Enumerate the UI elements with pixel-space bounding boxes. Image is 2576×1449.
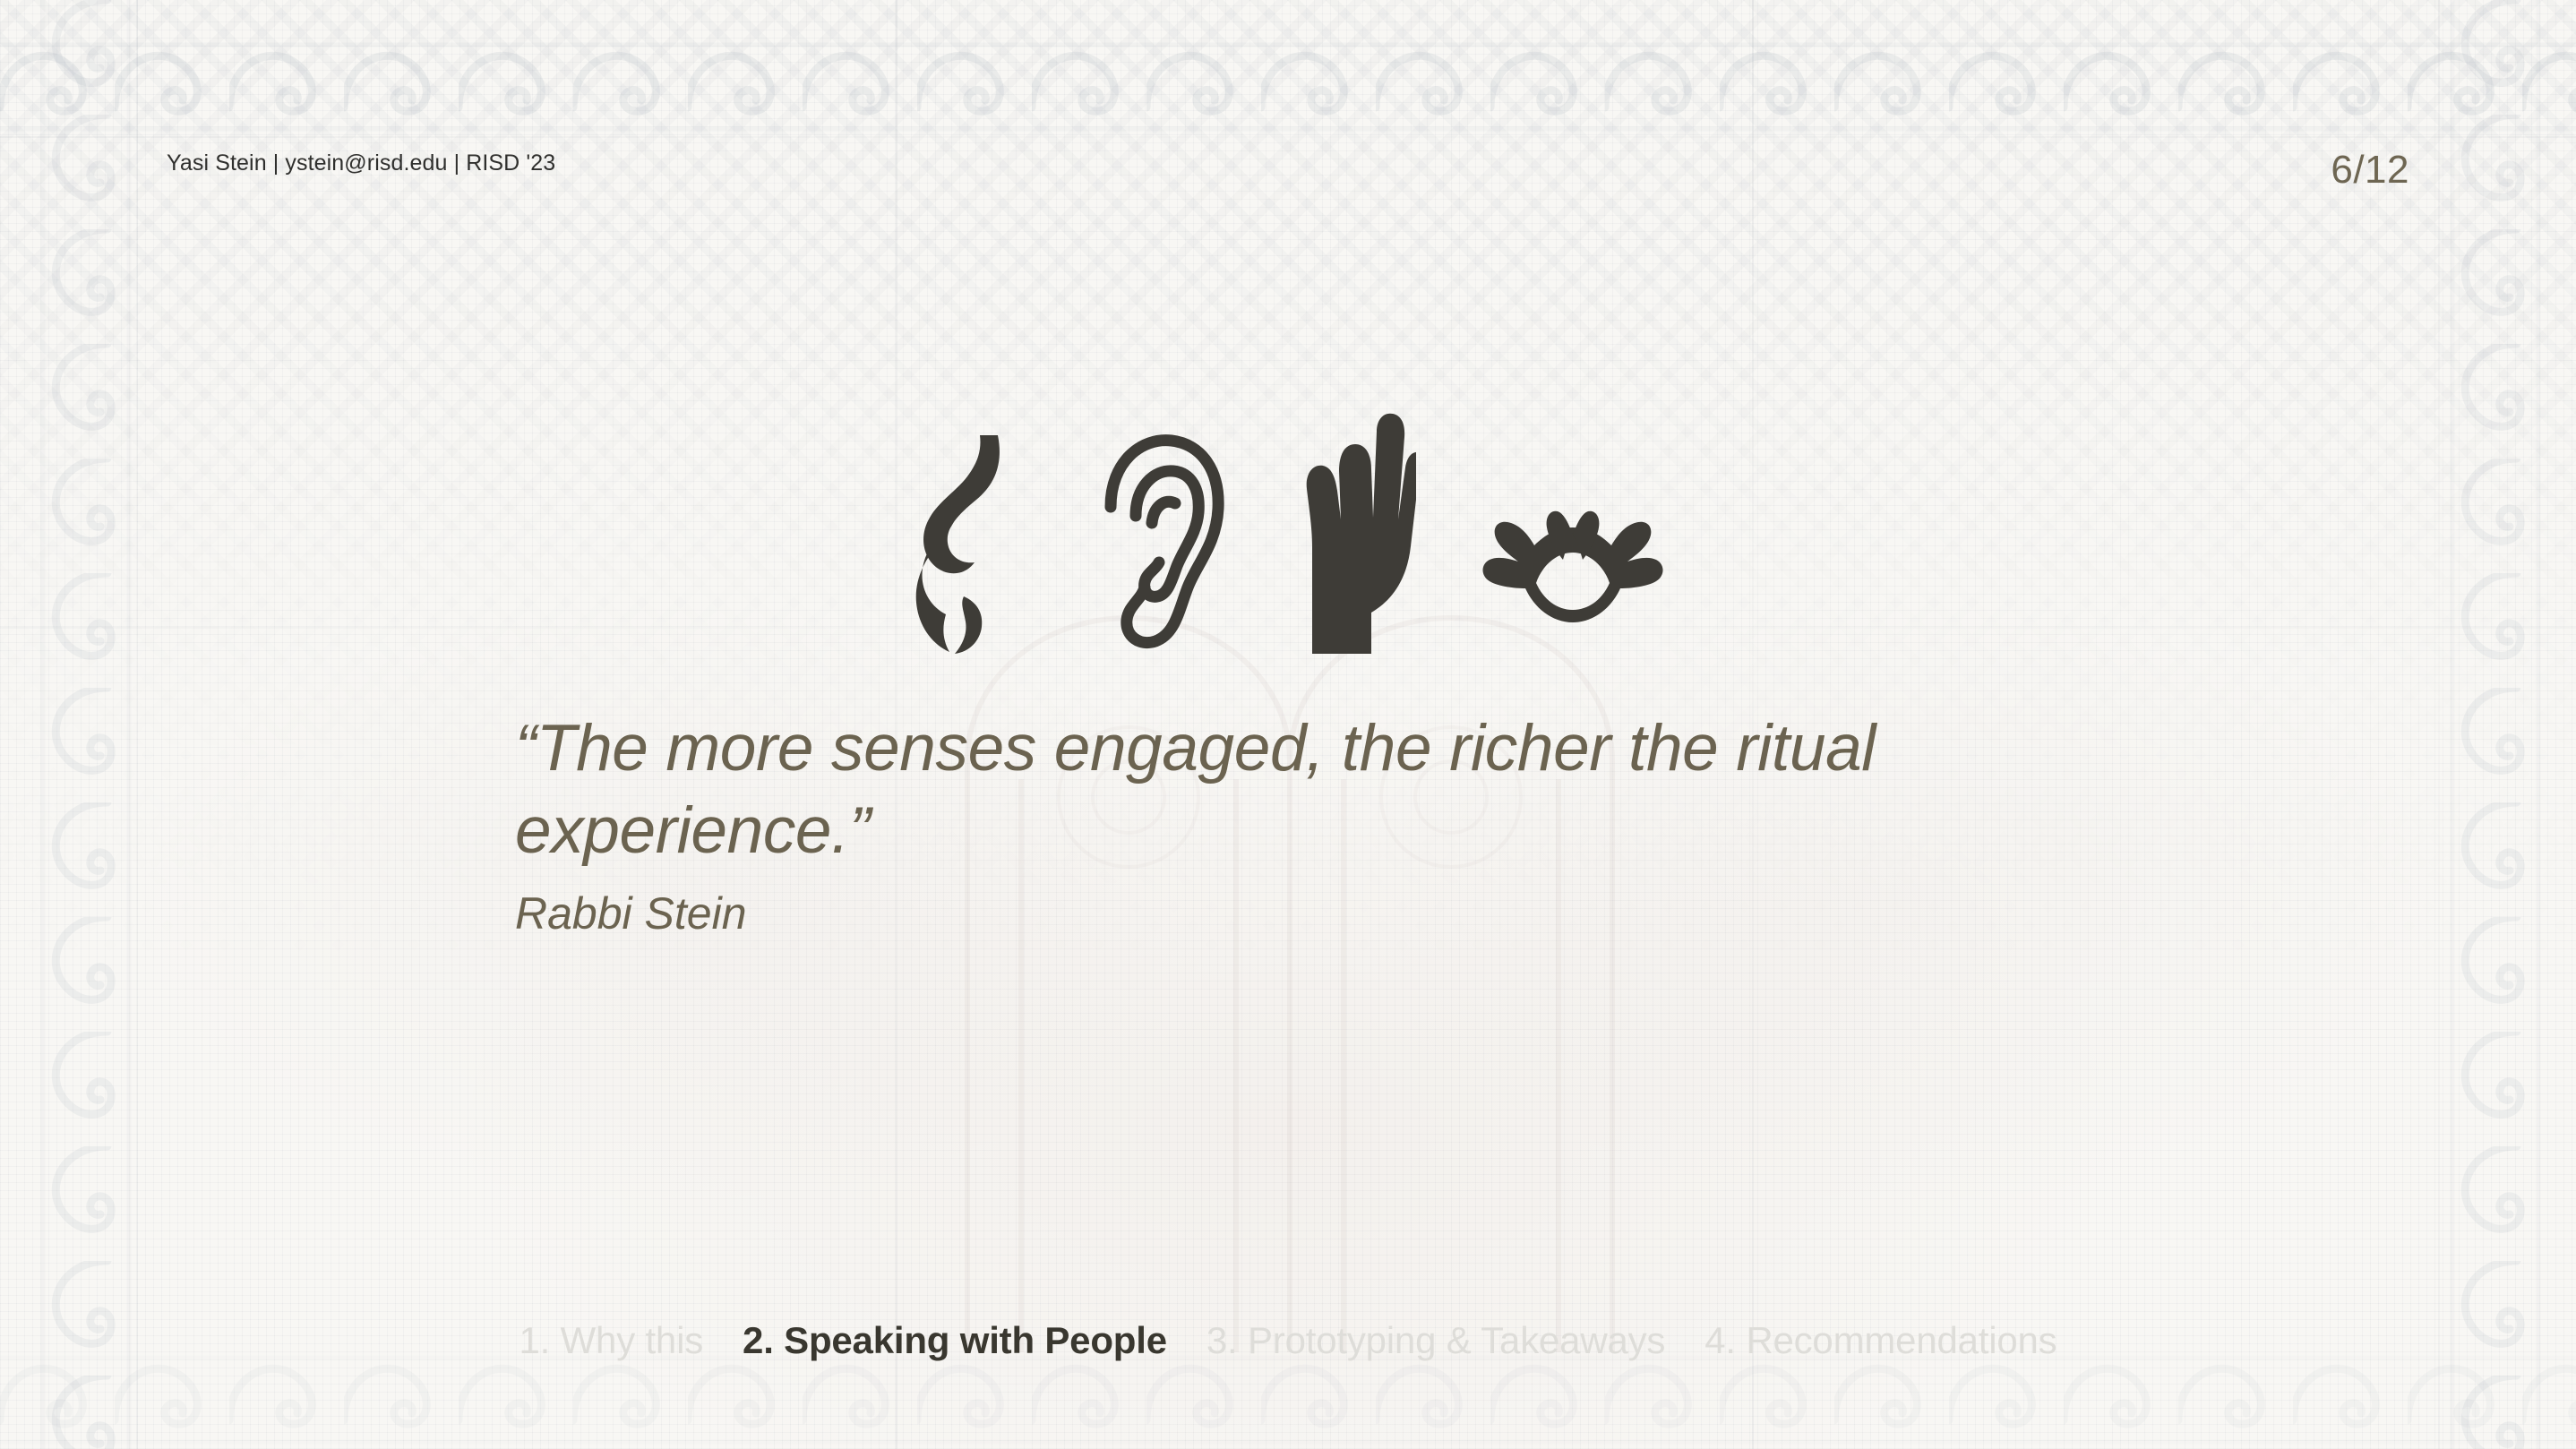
nav-item-prototyping-takeaways[interactable]: 3. Prototyping & Takeaways (1187, 1319, 1685, 1362)
eye-icon (1479, 497, 1667, 654)
quote-text: “The more senses engaged, the richer the… (515, 707, 2118, 872)
scroll-border-left (30, 0, 136, 1449)
quote-author: Rabbi Stein (515, 885, 2217, 943)
nav-item-recommendations[interactable]: 4. Recommendations (1685, 1319, 2076, 1362)
nav-item-speaking-with-people[interactable]: 2. Speaking with People (723, 1319, 1187, 1362)
smell-smoke-swirl-icon (910, 430, 1026, 654)
quote-block: “The more senses engaged, the richer the… (515, 707, 2217, 943)
slide-canvas: Yasi Stein | ystein@risd.edu | RISD '23 … (0, 0, 2576, 1449)
page-number: 6/12 (2331, 150, 2409, 190)
sense-icons-row (0, 385, 2576, 654)
slide-header: Yasi Stein | ystein@risd.edu | RISD '23 … (167, 150, 2409, 190)
author-byline: Yasi Stein | ystein@risd.edu | RISD '23 (167, 150, 555, 176)
scroll-border-top (0, 30, 2576, 136)
section-nav: 1. Why this 2. Speaking with People 3. P… (0, 1319, 2576, 1362)
hand-icon (1291, 412, 1416, 654)
nav-item-why-this[interactable]: 1. Why this (500, 1319, 724, 1362)
scroll-border-right (2440, 0, 2546, 1449)
ear-icon (1089, 430, 1228, 654)
